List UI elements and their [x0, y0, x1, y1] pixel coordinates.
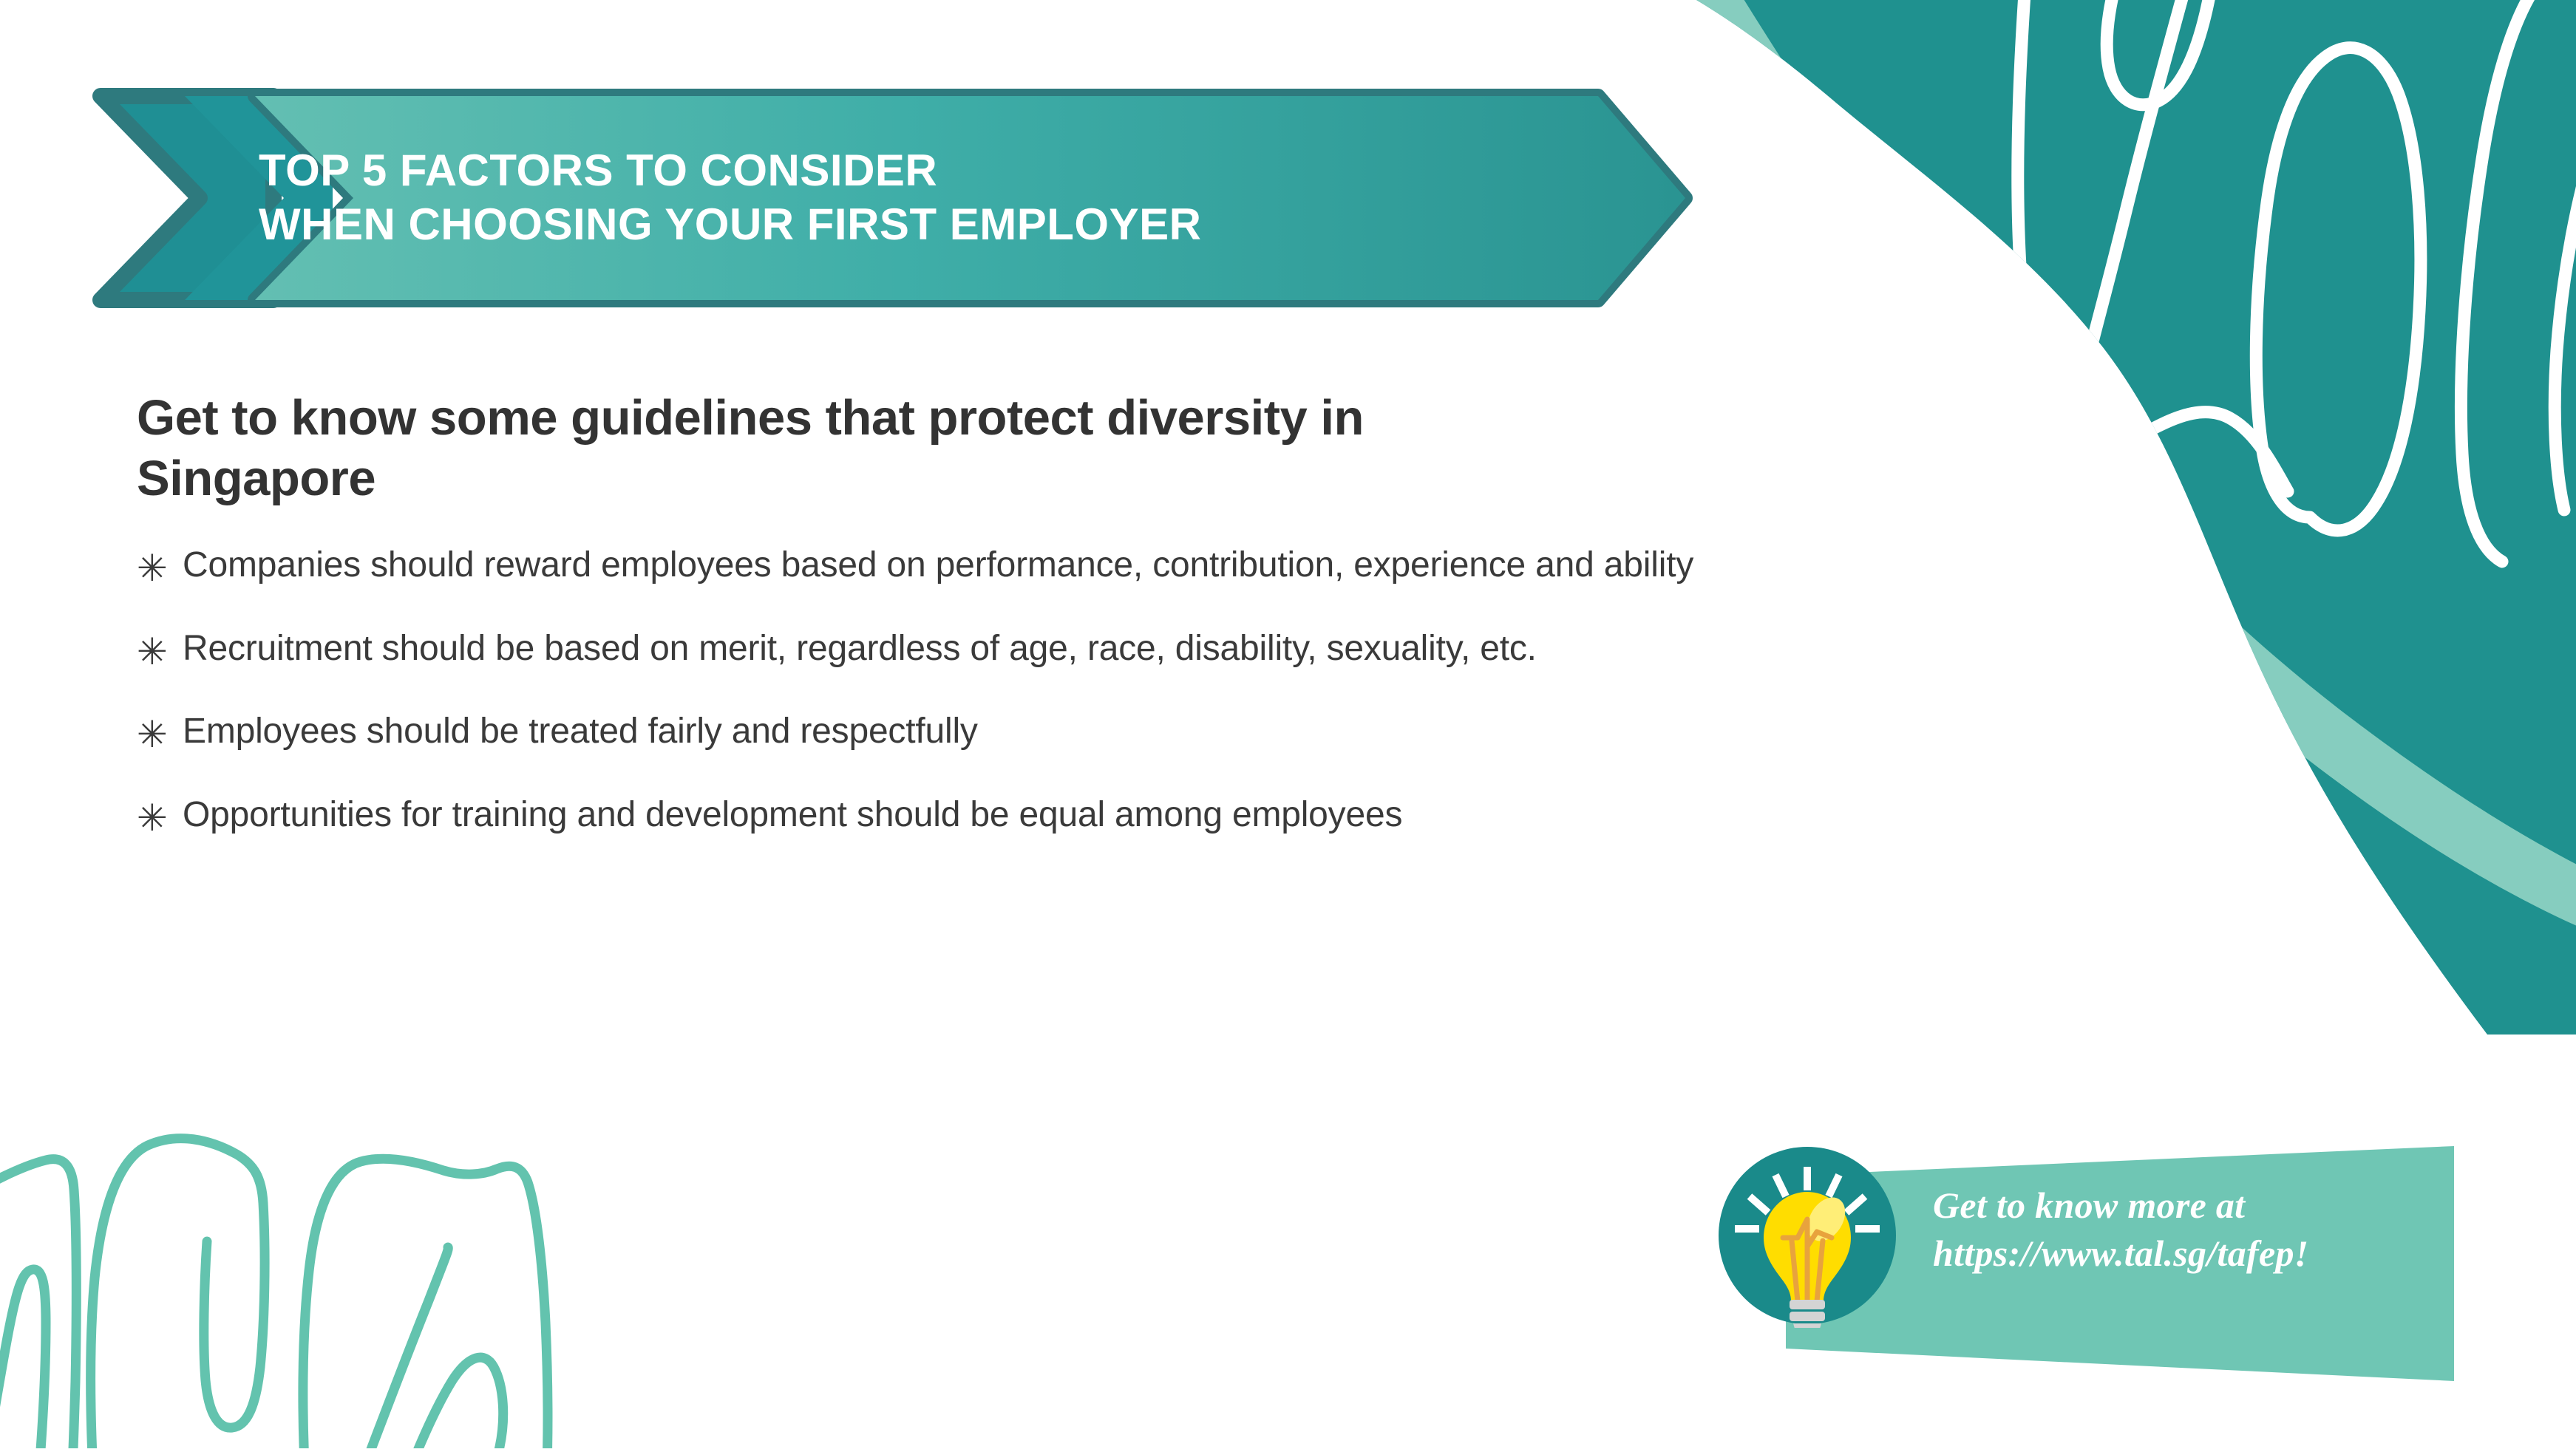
list-item: ✳ Employees should be treated fairly and…	[137, 709, 2317, 754]
asterisk-bullet-icon: ✳	[137, 542, 183, 587]
ribbon-title-line-2: WHEN CHOOSING YOUR FIRST EMPLOYER	[259, 201, 1201, 249]
main-content: Get to know some guidelines that protect…	[137, 388, 2317, 875]
list-item-text: Companies should reward employees based …	[183, 542, 1693, 588]
list-item: ✳ Recruitment should be based on merit, …	[137, 626, 2317, 672]
ribbon-text-block: TOP 5 FACTORS TO CONSIDER WHEN CHOOSING …	[259, 87, 1201, 309]
list-item-text: Opportunities for training and developme…	[183, 792, 1402, 838]
list-item: ✳ Opportunities for training and develop…	[137, 792, 2317, 838]
asterisk-bullet-icon: ✳	[137, 626, 183, 670]
decorative-squiggle-bottom-left	[0, 1101, 591, 1448]
cta-callout[interactable]: Get to know more at https://www.tal.sg/t…	[1715, 1105, 2506, 1400]
asterisk-bullet-icon: ✳	[137, 709, 183, 753]
ribbon-title-line-1: TOP 5 FACTORS TO CONSIDER	[259, 147, 1201, 195]
list-item-text: Employees should be treated fairly and r…	[183, 709, 978, 754]
asterisk-bullet-icon: ✳	[137, 792, 183, 836]
lightbulb-icon	[1715, 1143, 1900, 1328]
cta-line-1: Get to know more at	[1933, 1182, 2495, 1230]
list-item: ✳ Companies should reward employees base…	[137, 542, 2317, 588]
guidelines-list: ✳ Companies should reward employees base…	[137, 542, 2317, 838]
cta-text-block: Get to know more at https://www.tal.sg/t…	[1933, 1182, 2495, 1278]
section-heading: Get to know some guidelines that protect…	[137, 388, 1578, 508]
list-item-text: Recruitment should be based on merit, re…	[183, 626, 1537, 672]
title-ribbon: TOP 5 FACTORS TO CONSIDER WHEN CHOOSING …	[89, 87, 1715, 309]
cta-link[interactable]: https://www.tal.sg/tafep!	[1933, 1230, 2495, 1278]
